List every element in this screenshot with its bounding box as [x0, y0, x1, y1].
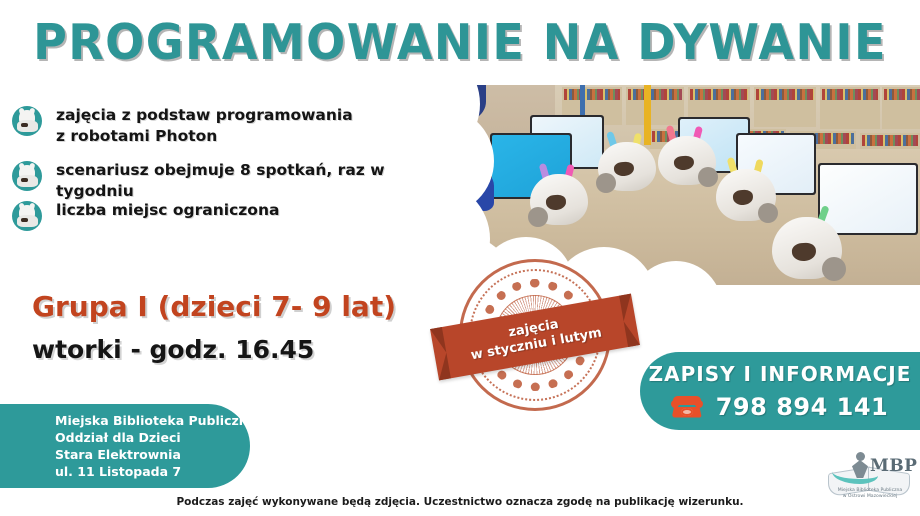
photon-robot	[530, 163, 588, 225]
photon-robot	[716, 157, 776, 221]
poster-canvas: PROGRAMOWANIE NA DYWANIE	[0, 0, 920, 516]
consent-footnote: Podczas zajęć wykonywane będą zdjęcia. U…	[0, 496, 920, 508]
logo-figure-head	[856, 452, 865, 461]
photon-robot	[598, 131, 656, 191]
photon-robot	[772, 203, 842, 279]
address-line: Miejska Biblioteka Publiczna	[55, 412, 250, 429]
bookshelf	[626, 87, 684, 125]
logo-caption: Miejska Biblioteka Publiczna w Ostrowi M…	[826, 488, 914, 500]
contact-phone-row: 798 894 141	[672, 393, 889, 421]
date-stamp-badge: zajęcia w styczniu i lutym	[455, 255, 615, 415]
photon-robot-icon	[12, 201, 42, 231]
photon-robot-icon	[12, 161, 42, 191]
address-panel: Miejska Biblioteka Publiczna Oddział dla…	[0, 404, 250, 488]
feature-item: scenariusz obejmuje 8 spotkań, raz w tyg…	[12, 160, 422, 202]
mbp-logo: MBP Miejska Biblioteka Publiczna w Ostro…	[826, 448, 914, 510]
telephone-icon	[672, 396, 702, 418]
contact-title: ZAPISY I INFORMACJE	[649, 362, 912, 386]
contact-panel: ZAPISY I INFORMACJE 798 894 141	[640, 352, 920, 430]
contact-phone-number[interactable]: 798 894 141	[716, 393, 889, 421]
bookshelf	[882, 87, 920, 129]
address-line: Oddział dla Dzieci	[55, 429, 250, 446]
group-heading: Grupa I (dzieci 7- 9 lat)	[32, 290, 396, 323]
address-line: Stara Elektrownia	[55, 446, 250, 463]
logo-monogram: MBP	[870, 456, 917, 476]
feature-item-label: zajęcia z podstaw programowania z robota…	[56, 105, 353, 147]
page-title: PROGRAMOWANIE NA DYWANIE	[28, 14, 893, 71]
bookshelf	[754, 87, 816, 127]
feature-item-label: scenariusz obejmuje 8 spotkań, raz w tyg…	[56, 160, 422, 202]
feature-item: zajęcia z podstaw programowania z robota…	[12, 105, 412, 147]
bookshelf	[820, 87, 880, 129]
photon-robot-icon	[12, 106, 42, 136]
address-line: ul. 11 Listopada 7	[55, 463, 250, 480]
group-schedule: wtorki - godz. 16.45	[32, 335, 314, 364]
photon-robot	[658, 125, 716, 185]
feature-item-label: liczba miejsc ograniczona	[56, 200, 279, 221]
feature-item: liczba miejsc ograniczona	[12, 200, 412, 231]
